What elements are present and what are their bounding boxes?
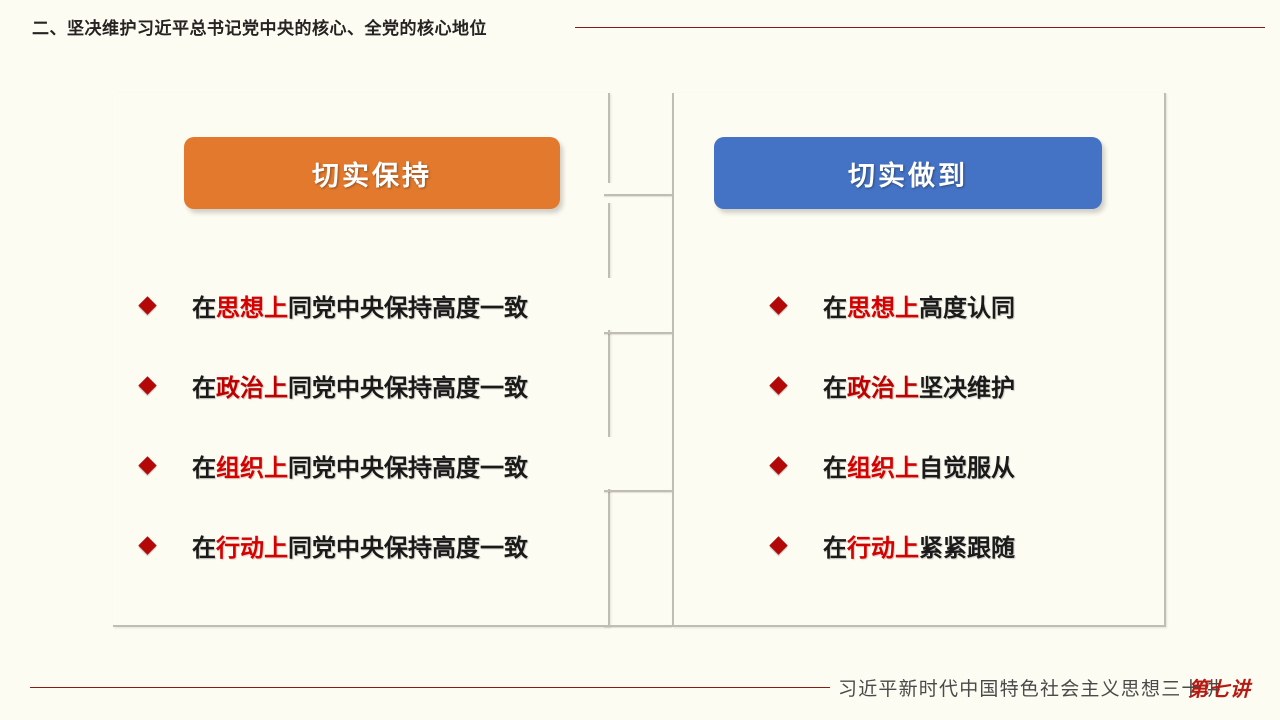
connector-line-1: [604, 194, 672, 196]
bullet-prefix: 在: [192, 374, 216, 402]
bullet-text: 在组织上自觉服从: [823, 448, 1015, 483]
bullet-text: 在政治上同党中央保持高度一致: [192, 368, 528, 403]
connector-line-4: [604, 625, 672, 627]
bullet-text: 在组织上同党中央保持高度一致: [192, 448, 528, 483]
bullet-highlight: 行动上: [216, 534, 288, 562]
bullet-suffix: 自觉服从: [919, 454, 1015, 482]
diamond-bullet-icon: [138, 376, 156, 394]
bullet-prefix: 在: [823, 374, 847, 402]
list-item[interactable]: 在组织上自觉服从: [772, 448, 1015, 483]
right-column-title-pill[interactable]: 切实做到: [714, 137, 1102, 209]
diamond-bullet-icon: [769, 536, 787, 554]
bullet-suffix: 同党中央保持高度一致: [288, 534, 528, 562]
list-item[interactable]: 在政治上同党中央保持高度一致: [141, 368, 528, 403]
diamond-bullet-icon: [769, 376, 787, 394]
bullet-highlight: 组织上: [216, 454, 288, 482]
bullet-suffix: 紧紧跟随: [919, 534, 1015, 562]
bullet-prefix: 在: [192, 454, 216, 482]
bullet-prefix: 在: [823, 454, 847, 482]
footer-series-title: 习近平新时代中国特色社会主义思想三十讲: [838, 674, 1222, 701]
bullet-highlight: 行动上: [847, 534, 919, 562]
diagram-canvas: 切实保持 切实做到 在思想上同党中央保持高度一致 在政治上同党中央保持高度一致 …: [0, 0, 1280, 720]
connector-line-3: [604, 490, 672, 492]
bullet-text: 在思想上同党中央保持高度一致: [192, 288, 528, 323]
footer-lecture-badge: 第七讲: [1188, 673, 1251, 702]
bullet-text: 在政治上坚决维护: [823, 368, 1015, 403]
bullet-prefix: 在: [823, 534, 847, 562]
connector-line-2: [604, 332, 672, 334]
list-item[interactable]: 在组织上同党中央保持高度一致: [141, 448, 528, 483]
bullet-highlight: 政治上: [216, 374, 288, 402]
border-notch-3: [602, 437, 614, 489]
list-item[interactable]: 在思想上同党中央保持高度一致: [141, 288, 528, 323]
diamond-bullet-icon: [138, 456, 156, 474]
bullet-text: 在行动上紧紧跟随: [823, 528, 1015, 563]
border-notch-1: [602, 183, 614, 203]
bullet-suffix: 坚决维护: [919, 374, 1015, 402]
bullet-prefix: 在: [823, 294, 847, 322]
diamond-bullet-icon: [769, 456, 787, 474]
list-item[interactable]: 在行动上紧紧跟随: [772, 528, 1015, 563]
left-column-title-pill[interactable]: 切实保持: [184, 137, 560, 209]
bullet-highlight: 思想上: [216, 294, 288, 322]
bullet-prefix: 在: [192, 534, 216, 562]
bullet-text: 在思想上高度认同: [823, 288, 1015, 323]
diamond-bullet-icon: [138, 536, 156, 554]
list-item[interactable]: 在行动上同党中央保持高度一致: [141, 528, 528, 563]
list-item[interactable]: 在思想上高度认同: [772, 288, 1015, 323]
bullet-text: 在行动上同党中央保持高度一致: [192, 528, 528, 563]
right-column-title-label: 切实做到: [848, 154, 968, 193]
bullet-highlight: 思想上: [847, 294, 919, 322]
footer-divider-line: [30, 687, 830, 688]
diamond-bullet-icon: [138, 296, 156, 314]
bullet-prefix: 在: [192, 294, 216, 322]
left-column-title-label: 切实保持: [312, 154, 432, 193]
bullet-suffix: 同党中央保持高度一致: [288, 294, 528, 322]
list-item[interactable]: 在政治上坚决维护: [772, 368, 1015, 403]
diamond-bullet-icon: [769, 296, 787, 314]
bullet-suffix: 高度认同: [919, 294, 1015, 322]
bullet-suffix: 同党中央保持高度一致: [288, 454, 528, 482]
border-notch-2: [602, 278, 614, 330]
bullet-suffix: 同党中央保持高度一致: [288, 374, 528, 402]
bullet-highlight: 组织上: [847, 454, 919, 482]
bullet-highlight: 政治上: [847, 374, 919, 402]
